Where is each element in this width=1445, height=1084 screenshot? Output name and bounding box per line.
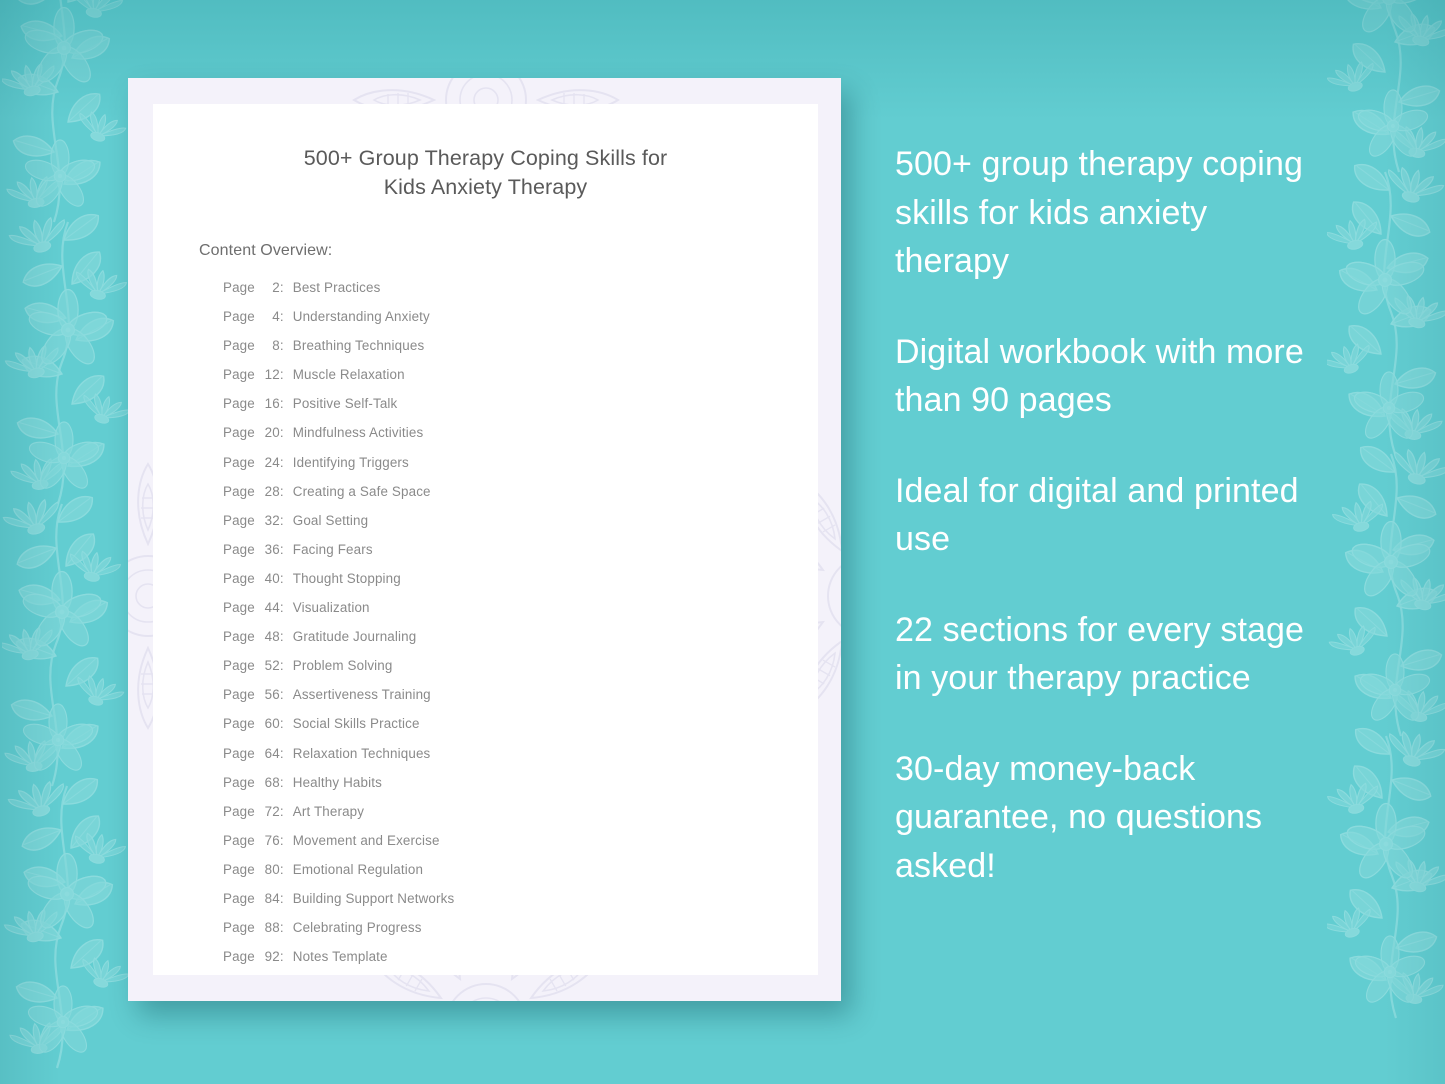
toc-separator: :	[280, 804, 284, 819]
floral-vine-pattern-icon	[1327, 0, 1445, 1084]
toc-separator: :	[280, 687, 284, 702]
product-listing-image: 500+ Group Therapy Coping Skills for Kid…	[0, 0, 1445, 1084]
left-edge-shade	[0, 0, 60, 1084]
toc-page-word: Page	[223, 542, 255, 557]
toc-item[interactable]: Page8:Breathing Techniques	[223, 338, 818, 353]
toc-separator: :	[280, 484, 284, 499]
toc-separator: :	[280, 746, 284, 761]
toc-section-title: Visualization	[293, 600, 370, 615]
toc-page-number: 84	[259, 891, 280, 906]
toc-item[interactable]: Page92:Notes Template	[223, 949, 818, 964]
table-of-contents: Page2:Best PracticesPage4:Understanding …	[153, 261, 818, 964]
toc-section-title: Relaxation Techniques	[293, 746, 431, 761]
toc-page-number: 88	[259, 920, 280, 935]
toc-section-title: Goal Setting	[293, 513, 369, 528]
toc-section-title: Positive Self-Talk	[293, 396, 398, 411]
toc-item[interactable]: Page24:Identifying Triggers	[223, 455, 818, 470]
toc-page-number: 20	[259, 425, 280, 440]
toc-item[interactable]: Page36:Facing Fears	[223, 542, 818, 557]
marketing-copy-block: 22 sections for every stage in your ther…	[895, 606, 1327, 703]
toc-section-title: Assertiveness Training	[293, 687, 431, 702]
toc-page-number: 68	[259, 775, 280, 790]
toc-page-number: 24	[259, 455, 280, 470]
toc-page-word: Page	[223, 600, 255, 615]
toc-separator: :	[280, 396, 284, 411]
toc-page-word: Page	[223, 571, 255, 586]
toc-separator: :	[280, 862, 284, 877]
toc-item[interactable]: Page16:Positive Self-Talk	[223, 396, 818, 411]
toc-section-title: Healthy Habits	[293, 775, 382, 790]
toc-item[interactable]: Page32:Goal Setting	[223, 513, 818, 528]
toc-page-number: 28	[259, 484, 280, 499]
workbook-preview-card[interactable]: 500+ Group Therapy Coping Skills for Kid…	[128, 78, 841, 1001]
toc-page-word: Page	[223, 833, 255, 848]
workbook-page: 500+ Group Therapy Coping Skills for Kid…	[153, 104, 818, 975]
toc-section-title: Art Therapy	[293, 804, 364, 819]
toc-item[interactable]: Page80:Emotional Regulation	[223, 862, 818, 877]
toc-page-word: Page	[223, 716, 255, 731]
toc-item[interactable]: Page20:Mindfulness Activities	[223, 425, 818, 440]
marketing-copy-block: Ideal for digital and printed use	[895, 467, 1327, 564]
toc-page-word: Page	[223, 396, 255, 411]
toc-page-number: 32	[259, 513, 280, 528]
toc-page-number: 48	[259, 629, 280, 644]
toc-page-number: 64	[259, 746, 280, 761]
marketing-copy-column: 500+ group therapy coping skills for kid…	[895, 140, 1327, 890]
toc-section-title: Notes Template	[293, 949, 388, 964]
toc-page-word: Page	[223, 629, 255, 644]
toc-section-title: Best Practices	[293, 280, 381, 295]
content-overview-label: Content Overview:	[153, 202, 818, 261]
toc-section-title: Celebrating Progress	[293, 920, 422, 935]
toc-page-number: 60	[259, 716, 280, 731]
toc-page-word: Page	[223, 862, 255, 877]
toc-page-word: Page	[223, 367, 255, 382]
page-title: 500+ Group Therapy Coping Skills for Kid…	[153, 104, 818, 202]
toc-page-word: Page	[223, 804, 255, 819]
toc-section-title: Problem Solving	[293, 658, 393, 673]
toc-item[interactable]: Page60:Social Skills Practice	[223, 716, 818, 731]
toc-separator: :	[280, 280, 284, 295]
toc-item[interactable]: Page44:Visualization	[223, 600, 818, 615]
toc-page-word: Page	[223, 658, 255, 673]
toc-section-title: Breathing Techniques	[293, 338, 425, 353]
toc-separator: :	[280, 775, 284, 790]
toc-page-word: Page	[223, 746, 255, 761]
toc-separator: :	[280, 716, 284, 731]
toc-page-word: Page	[223, 338, 255, 353]
toc-page-word: Page	[223, 455, 255, 470]
toc-page-number: 56	[259, 687, 280, 702]
toc-item[interactable]: Page76:Movement and Exercise	[223, 833, 818, 848]
toc-page-word: Page	[223, 280, 255, 295]
toc-item[interactable]: Page48:Gratitude Journaling	[223, 629, 818, 644]
toc-section-title: Movement and Exercise	[293, 833, 440, 848]
toc-page-number: 72	[259, 804, 280, 819]
toc-page-number: 4	[259, 309, 280, 324]
toc-section-title: Facing Fears	[293, 542, 373, 557]
toc-item[interactable]: Page84:Building Support Networks	[223, 891, 818, 906]
marketing-copy-block: 500+ group therapy coping skills for kid…	[895, 140, 1327, 286]
toc-item[interactable]: Page88:Celebrating Progress	[223, 920, 818, 935]
toc-section-title: Social Skills Practice	[293, 716, 420, 731]
toc-page-number: 92	[259, 949, 280, 964]
toc-separator: :	[280, 513, 284, 528]
toc-section-title: Gratitude Journaling	[293, 629, 417, 644]
floral-vine-pattern-icon	[2, 0, 130, 1084]
toc-section-title: Mindfulness Activities	[293, 425, 424, 440]
toc-separator: :	[280, 542, 284, 557]
toc-separator: :	[280, 571, 284, 586]
toc-page-word: Page	[223, 687, 255, 702]
toc-separator: :	[280, 600, 284, 615]
toc-separator: :	[280, 455, 284, 470]
toc-separator: :	[280, 920, 284, 935]
toc-item[interactable]: Page12:Muscle Relaxation	[223, 367, 818, 382]
toc-page-word: Page	[223, 949, 255, 964]
right-edge-shade	[1385, 0, 1445, 1084]
toc-section-title: Identifying Triggers	[293, 455, 409, 470]
toc-section-title: Creating a Safe Space	[293, 484, 431, 499]
toc-separator: :	[280, 833, 284, 848]
toc-page-number: 36	[259, 542, 280, 557]
toc-item[interactable]: Page4:Understanding Anxiety	[223, 309, 818, 324]
marketing-copy-block: Digital workbook with more than 90 pages	[895, 328, 1327, 425]
toc-separator: :	[280, 949, 284, 964]
toc-page-word: Page	[223, 484, 255, 499]
toc-item[interactable]: Page40:Thought Stopping	[223, 571, 818, 586]
toc-page-word: Page	[223, 513, 255, 528]
toc-page-number: 16	[259, 396, 280, 411]
toc-page-number: 44	[259, 600, 280, 615]
toc-separator: :	[280, 891, 284, 906]
toc-page-number: 2	[259, 280, 280, 295]
toc-item[interactable]: Page2:Best Practices	[223, 280, 818, 295]
toc-page-number: 40	[259, 571, 280, 586]
toc-section-title: Thought Stopping	[293, 571, 401, 586]
toc-separator: :	[280, 367, 284, 382]
toc-separator: :	[280, 338, 284, 353]
toc-separator: :	[280, 629, 284, 644]
toc-page-word: Page	[223, 891, 255, 906]
toc-section-title: Muscle Relaxation	[293, 367, 405, 382]
toc-page-number: 8	[259, 338, 280, 353]
toc-section-title: Understanding Anxiety	[293, 309, 430, 324]
toc-item[interactable]: Page52:Problem Solving	[223, 658, 818, 673]
toc-page-number: 52	[259, 658, 280, 673]
toc-page-number: 76	[259, 833, 280, 848]
toc-item[interactable]: Page64:Relaxation Techniques	[223, 746, 818, 761]
toc-page-word: Page	[223, 775, 255, 790]
toc-page-word: Page	[223, 920, 255, 935]
toc-separator: :	[280, 309, 284, 324]
toc-page-word: Page	[223, 425, 255, 440]
toc-item[interactable]: Page68:Healthy Habits	[223, 775, 818, 790]
toc-item[interactable]: Page72:Art Therapy	[223, 804, 818, 819]
toc-separator: :	[280, 425, 284, 440]
toc-page-word: Page	[223, 309, 255, 324]
toc-item[interactable]: Page56:Assertiveness Training	[223, 687, 818, 702]
toc-item[interactable]: Page28:Creating a Safe Space	[223, 484, 818, 499]
toc-page-number: 12	[259, 367, 280, 382]
toc-section-title: Emotional Regulation	[293, 862, 423, 877]
toc-page-number: 80	[259, 862, 280, 877]
toc-section-title: Building Support Networks	[293, 891, 455, 906]
marketing-copy-block: 30-day money-back guarantee, no question…	[895, 745, 1327, 891]
toc-separator: :	[280, 658, 284, 673]
